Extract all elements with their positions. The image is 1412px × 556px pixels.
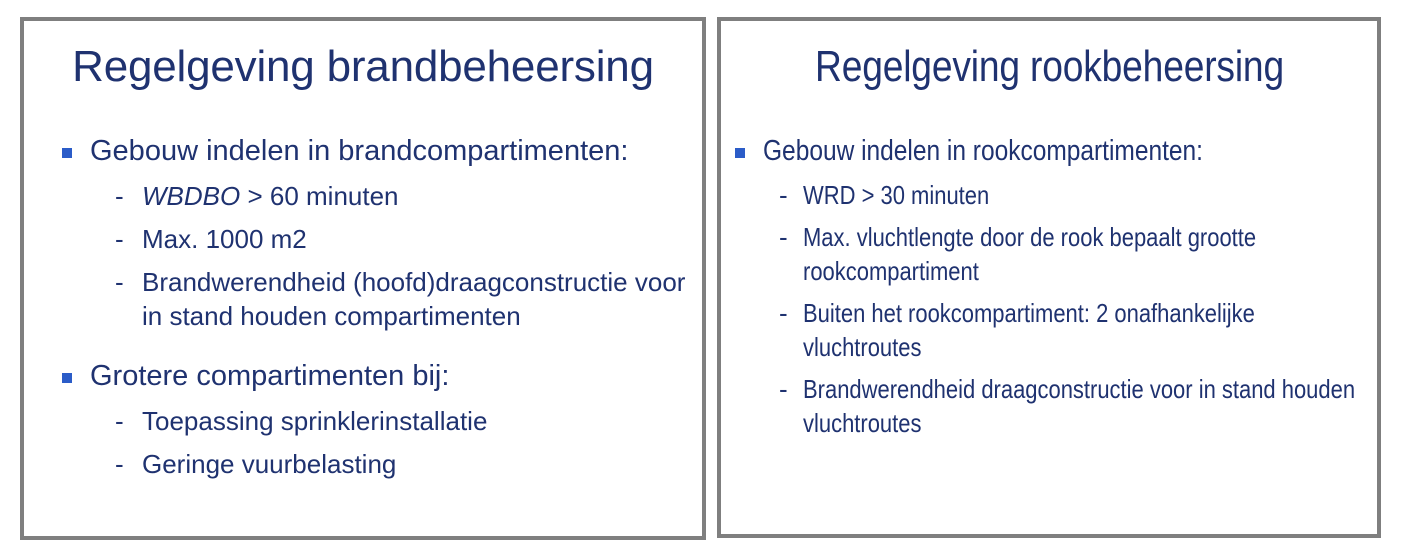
bullet-level2-emphasis: WBDBO bbox=[142, 181, 240, 211]
dash-bullet-icon: - bbox=[115, 447, 124, 481]
dash-bullet-icon: - bbox=[779, 372, 788, 406]
bullet-level2-label: > 60 minuten bbox=[240, 181, 398, 211]
bullet-level2: - Brandwerendheid (hoofd)draagconstructi… bbox=[60, 265, 692, 333]
bullet-level2-label: Brandwerendheid (hoofd)draagconstructie … bbox=[142, 267, 685, 331]
slide-body: Gebouw indelen in rookcompartimenten: - … bbox=[721, 133, 1377, 440]
bullet-level2: - Geringe vuurbelasting bbox=[60, 447, 692, 481]
slide-thumbnail-brandbeheersing[interactable]: Regelgeving brandbeheersing Gebouw indel… bbox=[20, 17, 706, 540]
bullet-level2-label: WRD > 30 minuten bbox=[803, 178, 1369, 212]
bullet-level1: Gebouw indelen in rookcompartimenten: bbox=[735, 133, 1369, 170]
bullet-level1: Gebouw indelen in brandcompartimenten: bbox=[60, 133, 692, 170]
bullet-level2: - Buiten het rookcompartiment: 2 onafhan… bbox=[735, 296, 1369, 364]
bullet-group: Gebouw indelen in rookcompartimenten: - … bbox=[735, 133, 1369, 440]
slide-title: Regelgeving brandbeheersing bbox=[24, 44, 702, 90]
square-bullet-icon bbox=[62, 148, 72, 158]
bullet-level1: Grotere compartimenten bij: bbox=[60, 358, 692, 395]
dash-bullet-icon: - bbox=[115, 265, 124, 299]
slide-thumbnail-rookbeheersing[interactable]: Regelgeving rookbeheersing Gebouw indele… bbox=[717, 17, 1381, 538]
bullet-level1-label: Grotere compartimenten bij: bbox=[90, 360, 449, 392]
bullet-level1-label: Gebouw indelen in rookcompartimenten: bbox=[763, 133, 1369, 170]
bullet-level2: - Toepassing sprinklerinstallatie bbox=[60, 404, 692, 438]
bullet-level2: - Brandwerendheid draagconstructie voor … bbox=[735, 372, 1369, 440]
bullet-level2: - WBDBO > 60 minuten bbox=[60, 179, 692, 213]
square-bullet-icon bbox=[735, 148, 745, 158]
bullet-level2-label: Buiten het rookcompartiment: 2 onafhanke… bbox=[803, 296, 1369, 364]
slide-deck: Regelgeving brandbeheersing Gebouw indel… bbox=[0, 0, 1412, 556]
dash-bullet-icon: - bbox=[779, 296, 788, 330]
slide-title-text: Regelgeving rookbeheersing bbox=[815, 44, 1284, 90]
bullet-level2-label: Max. 1000 m2 bbox=[142, 224, 307, 254]
bullet-group: Gebouw indelen in brandcompartimenten: -… bbox=[60, 133, 692, 333]
dash-bullet-icon: - bbox=[115, 179, 124, 213]
bullet-level1-label: Gebouw indelen in brandcompartimenten: bbox=[90, 135, 628, 167]
slide-body: Gebouw indelen in brandcompartimenten: -… bbox=[24, 133, 702, 482]
square-bullet-icon bbox=[62, 373, 72, 383]
bullet-level2-label: Toepassing sprinklerinstallatie bbox=[142, 406, 487, 436]
dash-bullet-icon: - bbox=[115, 222, 124, 256]
bullet-level2-label: Brandwerendheid draagconstructie voor in… bbox=[803, 372, 1369, 440]
bullet-level2: - WRD > 30 minuten bbox=[735, 178, 1369, 212]
bullet-level2-label: Geringe vuurbelasting bbox=[142, 449, 396, 479]
dash-bullet-icon: - bbox=[115, 404, 124, 438]
dash-bullet-icon: - bbox=[779, 220, 788, 254]
bullet-group: Grotere compartimenten bij: - Toepassing… bbox=[60, 358, 692, 481]
dash-bullet-icon: - bbox=[779, 178, 788, 212]
slide-title: Regelgeving rookbeheersing bbox=[721, 44, 1377, 90]
bullet-level2: - Max. 1000 m2 bbox=[60, 222, 692, 256]
bullet-level2-label: Max. vluchtlengte door de rook bepaalt g… bbox=[803, 220, 1369, 288]
bullet-level2: - Max. vluchtlengte door de rook bepaalt… bbox=[735, 220, 1369, 288]
slide-title-text: Regelgeving brandbeheersing bbox=[72, 42, 654, 91]
